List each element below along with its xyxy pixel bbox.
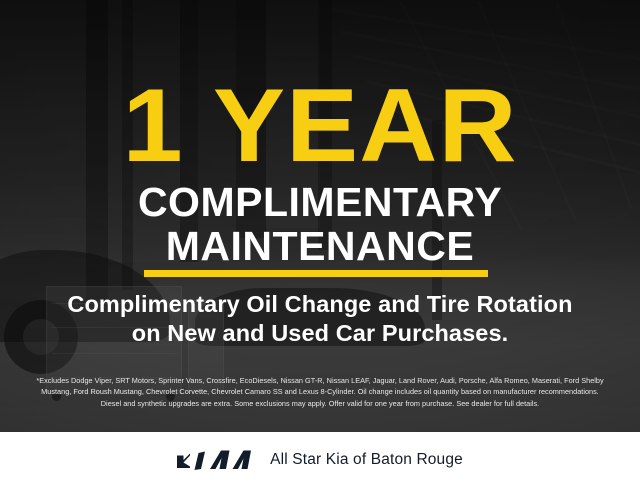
headline-year: 1 YEAR [0, 74, 640, 178]
disclaimer-line-3: Diesel and synthetic upgrades are extra.… [14, 398, 626, 409]
disclaimer-text: *Excludes Dodge Viper, SRT Motors, Sprin… [14, 375, 626, 409]
promo-banner: 1 YEAR COMPLIMENTARY MAINTENANCE Complim… [0, 0, 640, 488]
disclaimer-line-1: *Excludes Dodge Viper, SRT Motors, Sprin… [14, 375, 626, 386]
hero-background-photo: 1 YEAR COMPLIMENTARY MAINTENANCE Complim… [0, 0, 640, 432]
subheadline-line-1: Complimentary Oil Change and Tire Rotati… [67, 291, 572, 317]
subheadline: Complimentary Oil Change and Tire Rotati… [22, 290, 618, 348]
dealer-name: All Star Kia of Baton Rouge [270, 451, 463, 469]
headline-complimentary: COMPLIMENTARY [0, 182, 640, 223]
yellow-divider-rule [144, 270, 488, 277]
hero-content: 1 YEAR COMPLIMENTARY MAINTENANCE Complim… [0, 0, 640, 432]
disclaimer-line-2: Mustang, Ford Roush Mustang, Chevrolet C… [14, 386, 626, 397]
footer-bar: All Star Kia of Baton Rouge [0, 432, 640, 488]
subheadline-line-2: on New and Used Car Purchases. [132, 320, 509, 346]
headline-maintenance: MAINTENANCE [0, 226, 640, 267]
kia-logo [177, 448, 251, 472]
